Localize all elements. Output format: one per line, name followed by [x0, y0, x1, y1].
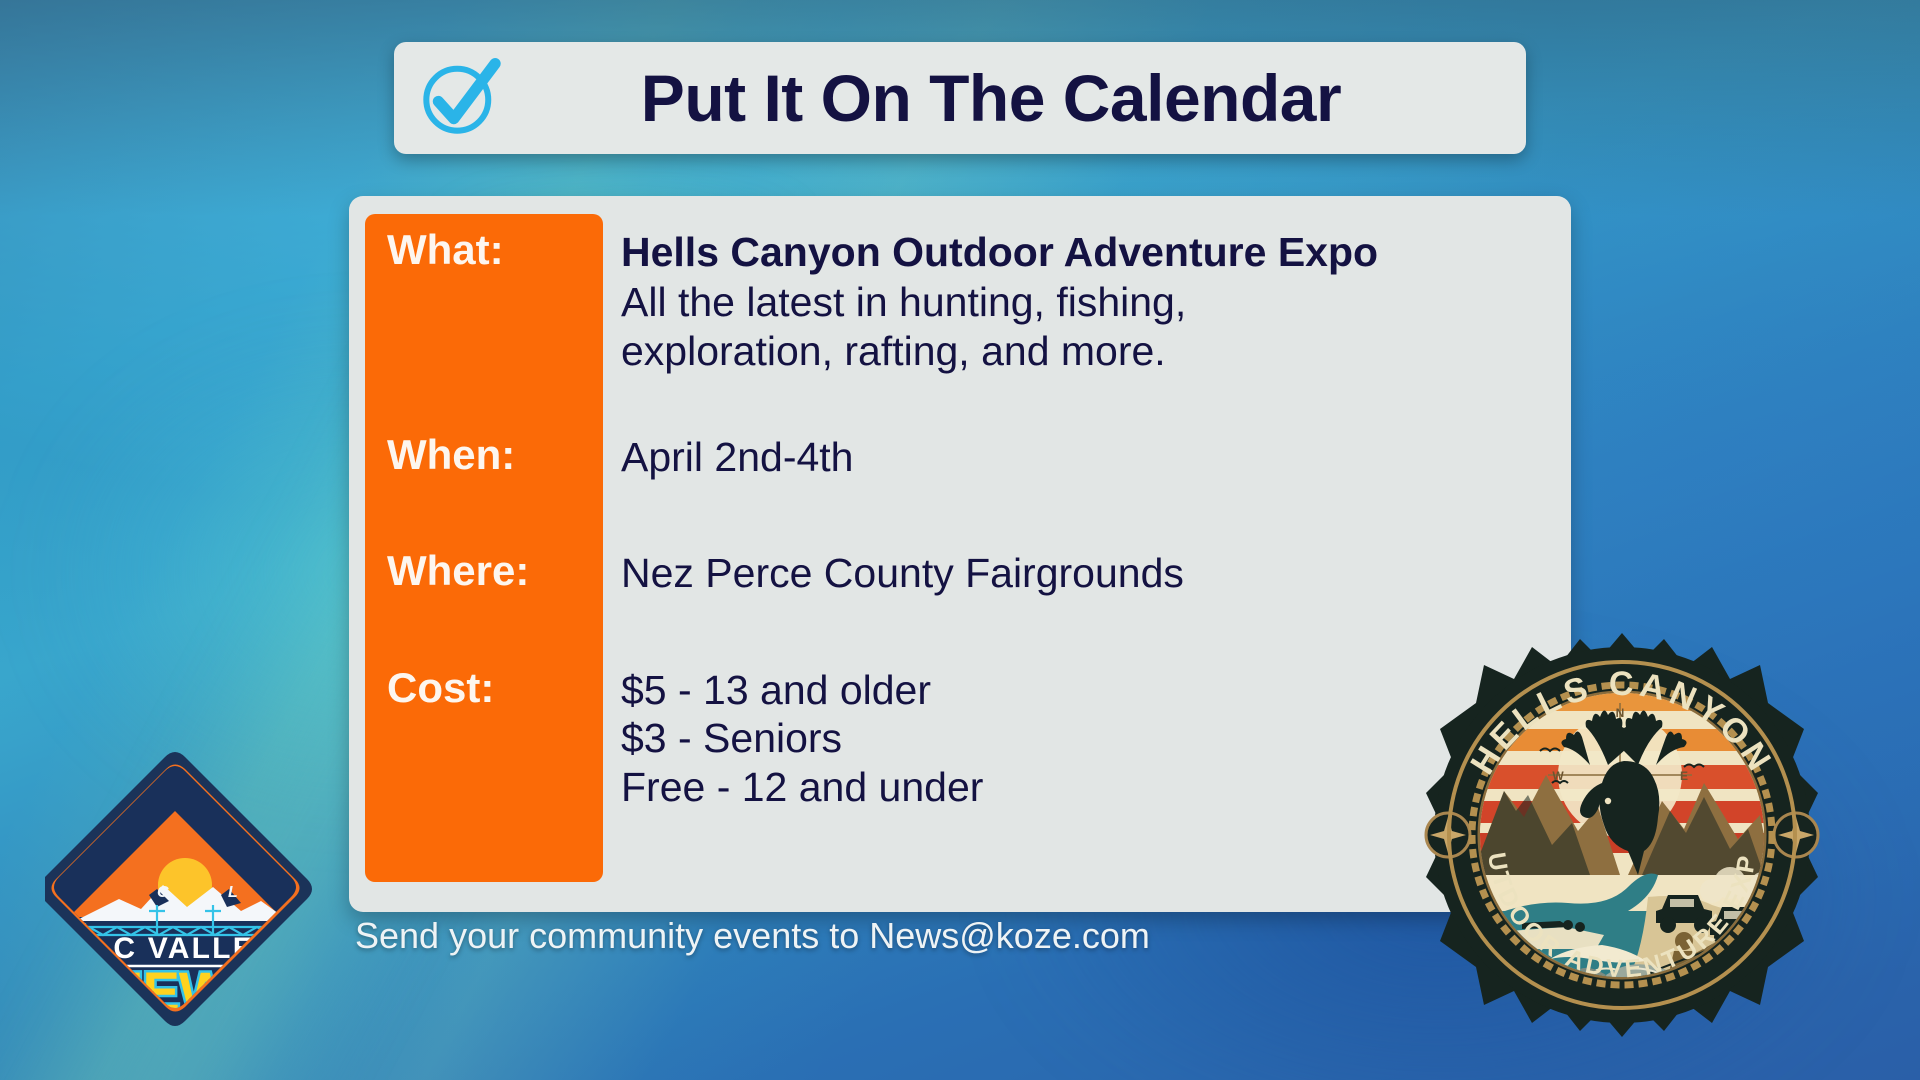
- hells-canyon-outdoor-adventure-expo-logo: N W E: [1412, 625, 1832, 1045]
- table-row: What: Hells Canyon Outdoor Adventure Exp…: [365, 228, 1553, 375]
- row-value-cost: $5 - 13 and older $3 - Seniors Free - 12…: [603, 666, 1553, 811]
- event-date: April 2nd-4th: [621, 433, 1553, 481]
- peak-letter-c: C: [157, 884, 169, 901]
- table-row: Where: Nez Perce County Fairgrounds: [365, 549, 1553, 597]
- table-row: Cost: $5 - 13 and older $3 - Seniors Fre…: [365, 666, 1553, 811]
- event-name: Hells Canyon Outdoor Adventure Expo: [621, 228, 1553, 276]
- lc-valley-news-logo: C L LC VALLEY NEWS: [45, 745, 325, 1035]
- row-label-where: Where:: [365, 549, 603, 597]
- row-label-what: What:: [365, 228, 603, 375]
- compass-e: E: [1680, 769, 1688, 783]
- title-bar: Put It On The Calendar: [394, 42, 1526, 154]
- event-location: Nez Perce County Fairgrounds: [621, 549, 1553, 597]
- page-title: Put It On The Calendar: [526, 60, 1526, 136]
- event-details-card: What: Hells Canyon Outdoor Adventure Exp…: [349, 196, 1571, 912]
- row-value-where: Nez Perce County Fairgrounds: [603, 549, 1553, 597]
- table-row: When: April 2nd-4th: [365, 433, 1553, 481]
- row-value-when: April 2nd-4th: [603, 433, 1553, 481]
- row-label-when: When:: [365, 433, 603, 481]
- event-desc-line-1: All the latest in hunting, fishing,: [621, 278, 1553, 326]
- check-circle-icon: [416, 55, 502, 141]
- compass-n: N: [1616, 706, 1625, 720]
- row-label-cost: Cost:: [365, 666, 603, 811]
- event-rows: What: Hells Canyon Outdoor Adventure Exp…: [365, 214, 1553, 894]
- footer-contact-note: Send your community events to News@koze.…: [355, 915, 1150, 957]
- row-value-what: Hells Canyon Outdoor Adventure Expo All …: [603, 228, 1553, 375]
- peak-letter-l: L: [228, 884, 238, 901]
- event-desc-line-2: exploration, rafting, and more.: [621, 327, 1553, 375]
